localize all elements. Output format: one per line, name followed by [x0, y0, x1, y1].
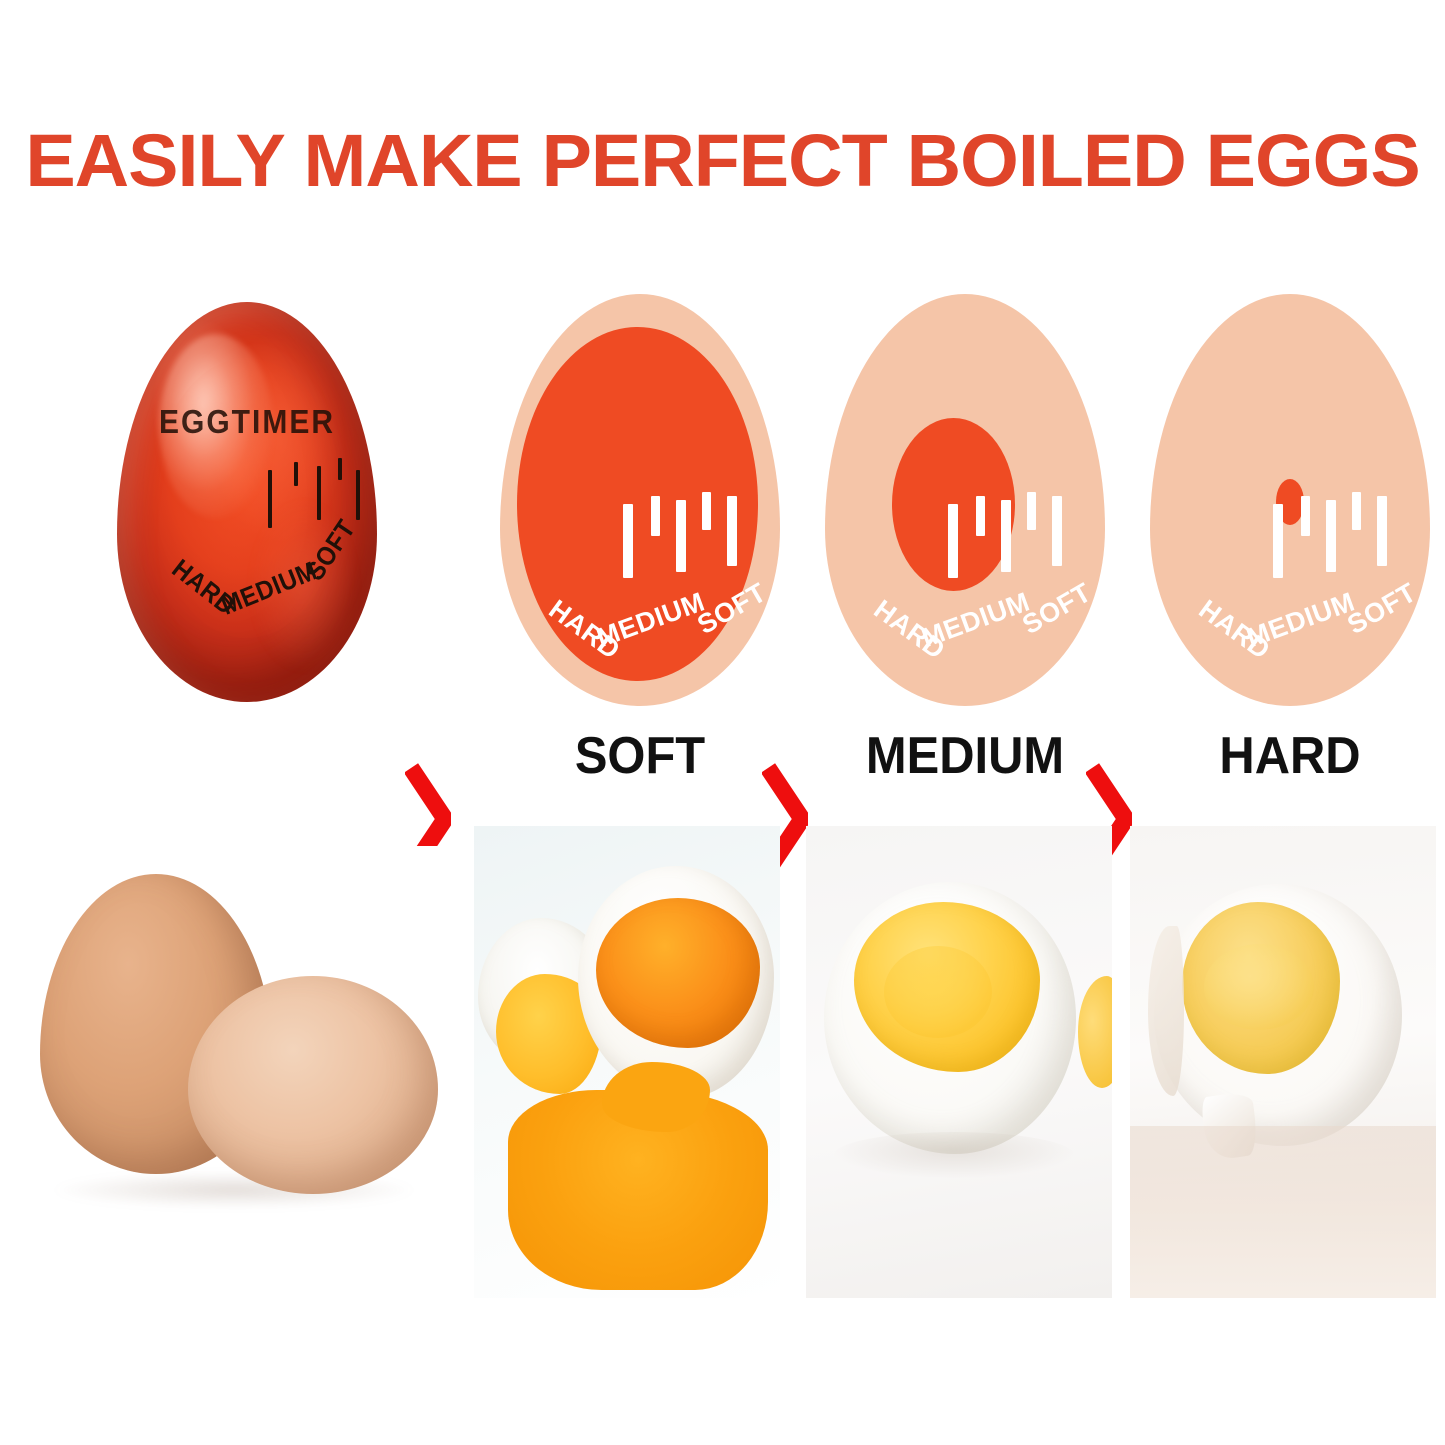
- yolk-hard-texture: [1204, 944, 1314, 1030]
- tick-medium-soft: [338, 458, 342, 480]
- raw-brown-eggs-photo: [18, 846, 458, 1286]
- tick-medium-soft: [1027, 492, 1036, 530]
- soft-scale: HARD MEDIUM SOFT: [500, 294, 780, 706]
- yolk-medium-texture: [884, 946, 992, 1038]
- stage-hard: HARD MEDIUM SOFT: [1140, 290, 1440, 710]
- scale-label-medium: MEDIUM: [918, 586, 1034, 654]
- stage-row: EGGTIMER HARD MEDIUM SOFT: [0, 290, 1445, 730]
- medium-scale: HARD MEDIUM SOFT: [825, 294, 1105, 706]
- brown-egg-lying: [188, 976, 438, 1194]
- egg-timer-scale: HARD MEDIUM SOFT: [117, 302, 377, 702]
- scale-label-medium: MEDIUM: [1243, 586, 1359, 654]
- tick-medium: [1326, 500, 1336, 572]
- tick-soft: [356, 470, 360, 520]
- egg-timer-body: EGGTIMER HARD MEDIUM SOFT: [117, 302, 377, 702]
- caption-hard: HARD: [1149, 726, 1431, 786]
- tick-medium: [1001, 500, 1011, 572]
- tick-soft: [1052, 496, 1062, 566]
- tick-hard-medium: [976, 496, 985, 536]
- medium-boiled-egg-photo: [806, 826, 1112, 1298]
- tick-medium: [317, 466, 321, 520]
- scale-label-medium: MEDIUM: [593, 586, 709, 654]
- hard-boiled-egg-photo: [1130, 826, 1436, 1298]
- tick-hard-medium: [294, 462, 298, 486]
- caption-medium: MEDIUM: [824, 726, 1106, 786]
- tick-medium-soft: [1352, 492, 1361, 530]
- tick-medium: [676, 500, 686, 572]
- page-title: EASILY MAKE PERFECT BOILED EGGS: [0, 118, 1445, 203]
- scale-label-soft: SOFT: [1342, 577, 1422, 641]
- photo-row: [0, 826, 1445, 1306]
- tick-hard: [623, 504, 633, 578]
- soft-egg-shape: HARD MEDIUM SOFT: [500, 294, 780, 706]
- tick-hard: [1273, 504, 1283, 578]
- tick-hard-medium: [651, 496, 660, 536]
- runny-yolk-drip: [602, 1062, 710, 1132]
- tick-hard: [268, 470, 272, 528]
- stage-egg-timer-device: EGGTIMER HARD MEDIUM SOFT: [95, 290, 395, 710]
- infographic-page: EASILY MAKE PERFECT BOILED EGGS EGGTIMER…: [0, 0, 1445, 1445]
- scale-label-soft: SOFT: [1017, 577, 1097, 641]
- tick-soft: [1377, 496, 1387, 566]
- scale-label-soft: SOFT: [692, 577, 772, 641]
- stage-soft: HARD MEDIUM SOFT: [490, 290, 790, 710]
- tick-soft: [727, 496, 737, 566]
- scale-label-soft: SOFT: [300, 515, 362, 587]
- stage-caption-row: SOFT MEDIUM HARD: [0, 726, 1445, 796]
- tick-hard-medium: [1301, 496, 1310, 536]
- soft-boiled-egg-photo: [474, 826, 780, 1298]
- hard-egg-shape: HARD MEDIUM SOFT: [1150, 294, 1430, 706]
- caption-soft: SOFT: [499, 726, 781, 786]
- tick-hard: [948, 504, 958, 578]
- hard-scale: HARD MEDIUM SOFT: [1150, 294, 1430, 706]
- tick-medium-soft: [702, 492, 711, 530]
- stage-medium: HARD MEDIUM SOFT: [815, 290, 1115, 710]
- medium-egg-shape: HARD MEDIUM SOFT: [825, 294, 1105, 706]
